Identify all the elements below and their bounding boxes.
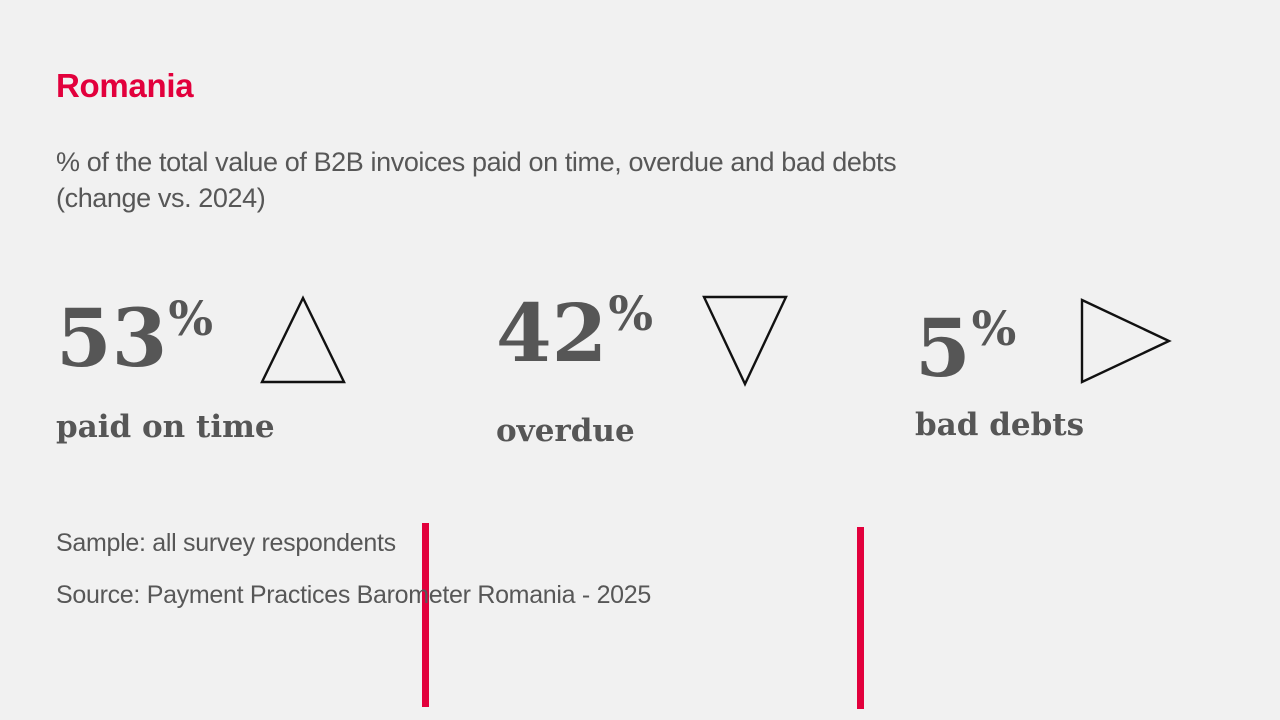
source-note: Source: Payment Practices Barometer Roma…	[56, 583, 651, 608]
subtitle-line-2: (change vs. 2024)	[56, 180, 1216, 216]
footer-notes: Sample: all survey respondents Source: P…	[56, 531, 651, 608]
stat-value-row: 42 %	[496, 255, 789, 392]
stat-number: 53	[56, 298, 167, 378]
percent-sign: %	[972, 306, 1017, 353]
stat-number: 5	[915, 308, 971, 388]
page-title: Romania	[56, 68, 193, 104]
subtitle: % of the total value of B2B invoices pai…	[56, 144, 1216, 216]
sample-note: Sample: all survey respondents	[56, 531, 651, 556]
percent-sign: %	[608, 291, 653, 338]
stat-label-overdue: overdue	[496, 416, 789, 447]
stat-block-paid-on-time: 53 % paid on time	[56, 255, 347, 443]
infographic-canvas: Romania % of the total value of B2B invo…	[0, 0, 1280, 720]
stats-row: 53 % paid on time 42 %	[0, 255, 1280, 465]
subtitle-line-1: % of the total value of B2B invoices pai…	[56, 147, 896, 177]
triangle-right-icon	[1078, 297, 1172, 390]
stat-value-bad-debts: 5 %	[915, 308, 1016, 388]
triangle-up-icon	[259, 295, 347, 390]
stat-value-paid-on-time: 53 %	[56, 298, 213, 378]
stat-block-overdue: 42 % overdue	[496, 255, 789, 447]
divider-bar-2	[857, 527, 864, 709]
stat-value-row: 53 %	[56, 255, 347, 390]
stat-block-bad-debts: 5 % bad debts	[915, 255, 1172, 441]
stat-number: 42	[496, 293, 607, 373]
percent-sign: %	[168, 296, 213, 343]
triangle-down-icon	[701, 293, 789, 392]
stat-value-row: 5 %	[915, 255, 1172, 390]
stat-label-paid-on-time: paid on time	[56, 412, 347, 443]
stat-label-bad-debts: bad debts	[915, 410, 1172, 441]
stat-value-overdue: 42 %	[496, 293, 653, 373]
